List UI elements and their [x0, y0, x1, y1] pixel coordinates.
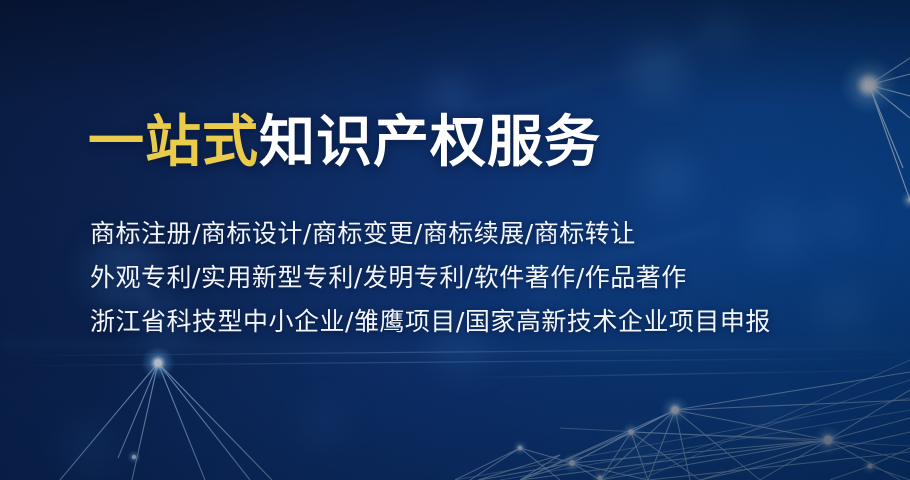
list-item: 浙江省科技型中小企业/雏鹰项目/国家高新技术企业项目申报	[90, 300, 878, 344]
headline-rest: 知识产权服务	[259, 110, 601, 175]
list-item: 商标注册/商标设计/商标变更/商标续展/商标转让	[90, 212, 878, 256]
service-list: 商标注册/商标设计/商标变更/商标续展/商标转让 外观专利/实用新型专利/发明专…	[90, 212, 878, 344]
page-title: 一站式知识产权服务	[88, 112, 878, 174]
promo-banner: 一站式知识产权服务 商标注册/商标设计/商标变更/商标续展/商标转让 外观专利/…	[0, 0, 910, 480]
banner-content: 一站式知识产权服务 商标注册/商标设计/商标变更/商标续展/商标转让 外观专利/…	[88, 112, 878, 344]
list-item: 外观专利/实用新型专利/发明专利/软件著作/作品著作	[90, 256, 878, 300]
headline-highlight: 一站式	[88, 110, 259, 175]
